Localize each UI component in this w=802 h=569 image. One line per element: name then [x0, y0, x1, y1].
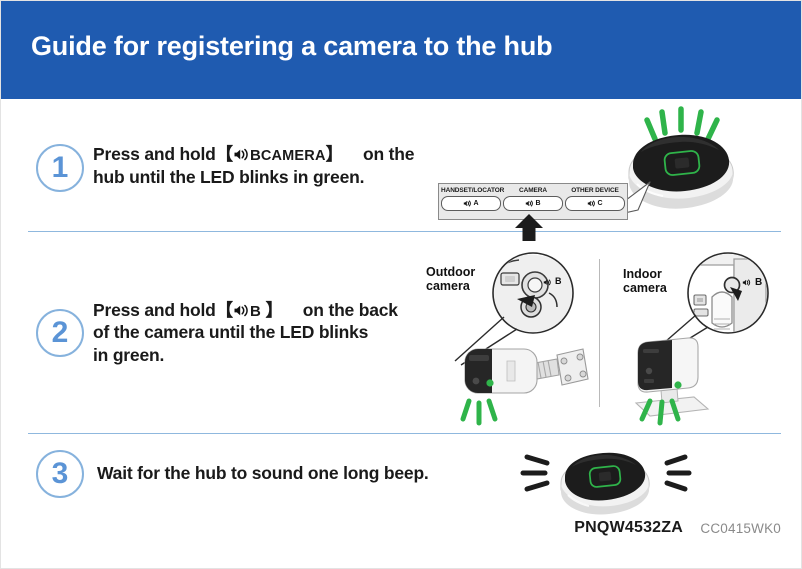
- outdoor-camera-magnifier: B: [493, 253, 575, 335]
- model-number: PNQW4532ZA: [574, 519, 683, 537]
- panel-head-other-device: OTHER DEVICE: [565, 187, 625, 194]
- indoor-camera-magnifier: B: [688, 253, 768, 333]
- speaker-icon: [233, 148, 250, 161]
- step-1-text-after: on the: [363, 144, 414, 164]
- panel-key-b[interactable]: B: [503, 196, 563, 211]
- bracket-open-2: 【: [216, 300, 233, 320]
- step-1-text-before: Press and hold: [93, 144, 216, 164]
- panel-head-handset: HANDSET/LOCATOR: [441, 187, 501, 194]
- step-1-line2: hub until the LED blinks in green.: [93, 167, 364, 187]
- step-3-row: 3 Wait for the hub to sound one long bee…: [1, 437, 802, 527]
- step-2-line2: of the camera until the LED blinks: [93, 322, 368, 342]
- key-label-b-1: B: [250, 147, 261, 164]
- bracket-close-2: 】: [265, 300, 282, 320]
- bracket-close-1: 】: [326, 144, 343, 164]
- key-label-b-2: B: [250, 303, 261, 320]
- step-2-text: Press and hold【 B 】on the back of the ca…: [93, 299, 443, 366]
- svg-text:B: B: [555, 276, 562, 286]
- beep-lines-right: [667, 457, 689, 489]
- speaker-icon: [233, 304, 250, 317]
- panel-column-handset[interactable]: HANDSET/LOCATOR A: [441, 187, 501, 218]
- step-1-row: 1 Press and hold【 BCAMERA】on the hub unt…: [1, 101, 802, 229]
- hub-illustration-step3: [521, 439, 711, 525]
- outdoor-camera-illustration: B: [431, 251, 606, 431]
- step-2-text-before: Press and hold: [93, 300, 216, 320]
- page-title: Guide for registering a camera to the hu…: [31, 31, 552, 62]
- step-2-number: 2: [36, 309, 84, 357]
- beep-lines-left: [523, 457, 547, 489]
- indoor-camera-illustration: B: [616, 251, 796, 431]
- panel-key-label-b: B: [535, 200, 540, 207]
- guide-page: Guide for registering a camera to the hu…: [0, 0, 802, 569]
- panel-head-camera: CAMERA: [503, 187, 563, 194]
- step-3-text: Wait for the hub to sound one long beep.: [97, 462, 517, 484]
- svg-text:B: B: [755, 277, 762, 288]
- led-blink-rays: [647, 109, 717, 139]
- step-2-line3: in green.: [93, 345, 164, 365]
- page-header: Guide for registering a camera to the hu…: [1, 1, 802, 99]
- outdoor-camera-led: [486, 379, 493, 386]
- panel-key-label-a: A: [473, 200, 478, 207]
- key-label-camera: CAMERA: [261, 148, 326, 164]
- outdoor-camera-body: [465, 349, 588, 393]
- footer: PNQW4532ZA CC0415WK0: [1, 519, 802, 547]
- step-1-number: 1: [36, 144, 84, 192]
- document-code: CC0415WK0: [700, 521, 781, 536]
- step-1-text: Press and hold【 BCAMERA】on the hub until…: [93, 143, 463, 188]
- panel-key-a[interactable]: A: [441, 196, 501, 211]
- bracket-open-1: 【: [216, 144, 233, 164]
- panel-key-c[interactable]: C: [565, 196, 625, 211]
- step-2-text-after: on the back: [303, 300, 398, 320]
- panel-key-label-c: C: [597, 200, 602, 207]
- indoor-camera-led: [674, 381, 681, 388]
- step-3-number: 3: [36, 450, 84, 498]
- panel-column-other[interactable]: OTHER DEVICE C: [565, 187, 625, 218]
- outdoor-led-blink-rays: [463, 401, 495, 423]
- divider-step2-step3: [28, 433, 781, 434]
